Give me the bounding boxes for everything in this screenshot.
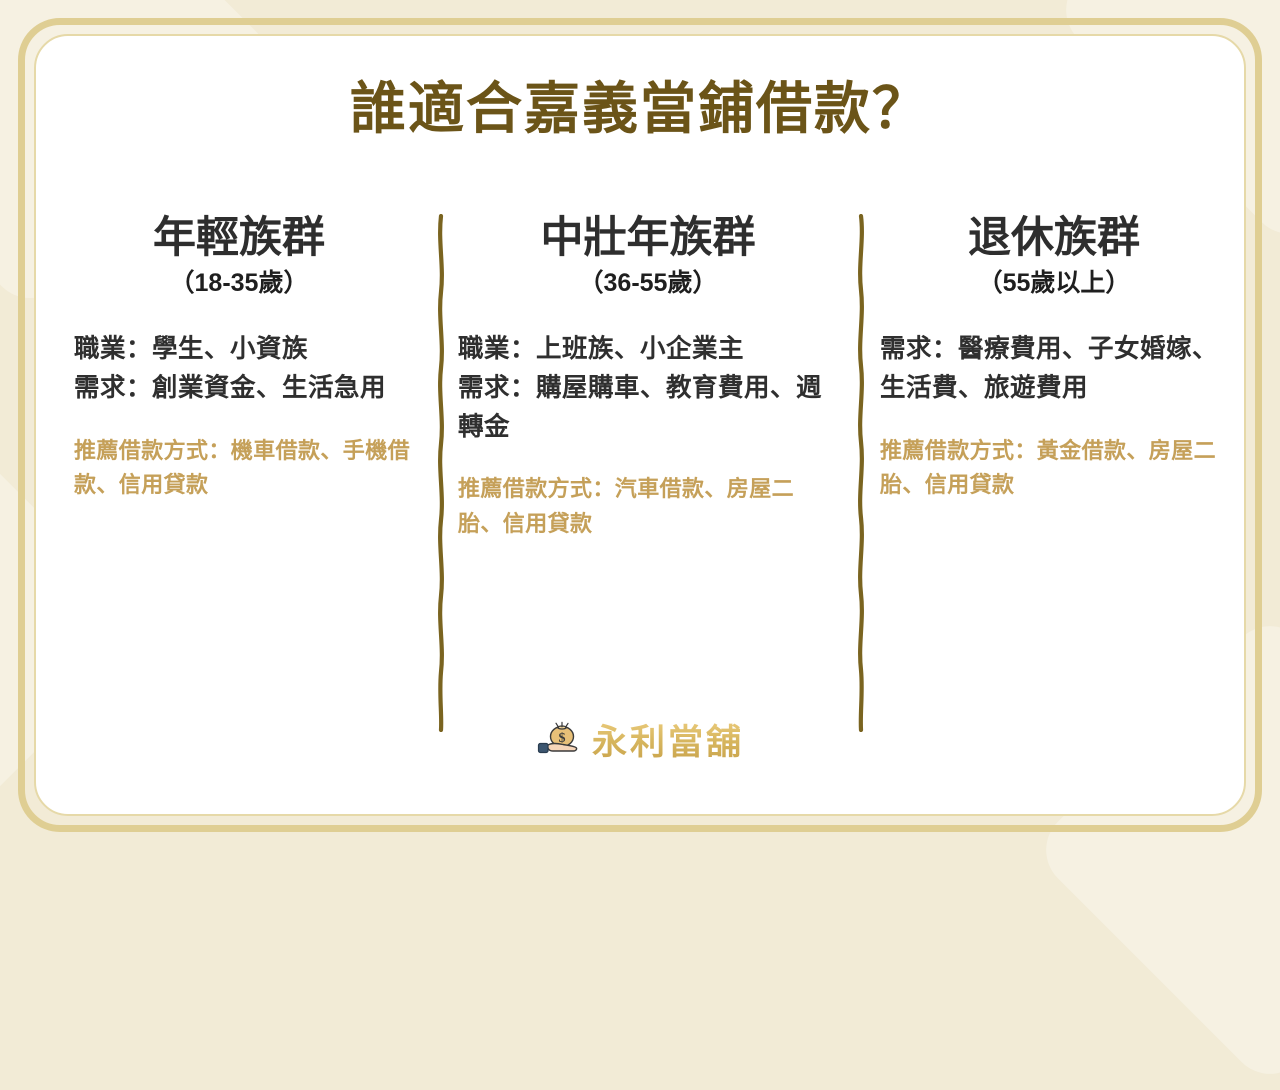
infographic-poster: 誰適合嘉義當鋪借款？ 年輕族群 （18-35歲） 職業：學生、小資族 需求：創業… [0,0,1280,850]
column-age-range: （36-55歲） [458,268,838,298]
audience-column-midlife: 中壯年族群 （36-55歲） 職業：上班族、小企業主 需求：購屋購車、教育費用、… [432,214,852,541]
column-details: 職業：上班族、小企業主 需求：購屋購車、教育費用、週轉金 [458,330,838,446]
page-title: 誰適合嘉義當鋪借款？ [36,78,1244,140]
audience-column-young: 年輕族群 （18-35歲） 職業：學生、小資族 需求：創業資金、生活急用 推薦借… [36,214,432,502]
detail-needs: 需求：購屋購車、教育費用、週轉金 [458,369,838,447]
column-age-range: （55歲以上） [880,268,1228,298]
brand-name: 永利當舖 [592,722,744,764]
audience-column-retired: 退休族群 （55歲以上） 需求：醫療費用、子女婚嫁、生活費、旅遊費用 推薦借款方… [852,214,1246,502]
detail-occupation: 職業：上班族、小企業主 [458,330,838,369]
column-age-range: （18-35歲） [64,268,414,298]
detail-occupation: 職業：學生、小資族 [64,330,414,369]
recommended-loan-types: 推薦借款方式：黃金借款、房屋二胎、信用貸款 [880,434,1228,502]
recommended-loan-types: 推薦借款方式：汽車借款、房屋二胎、信用貸款 [458,472,838,540]
column-details: 需求：醫療費用、子女婚嫁、生活費、旅遊費用 [880,330,1228,408]
content-card: 誰適合嘉義當鋪借款？ 年輕族群 （18-35歲） 職業：學生、小資族 需求：創業… [34,34,1246,816]
audience-columns: 年輕族群 （18-35歲） 職業：學生、小資族 需求：創業資金、生活急用 推薦借… [36,214,1246,734]
money-bag-in-hand-icon: $ [536,719,582,766]
recommended-loan-types: 推薦借款方式：機車借款、手機借款、信用貸款 [64,434,414,502]
column-heading: 退休族群 [880,214,1228,262]
column-heading: 年輕族群 [64,214,414,262]
column-details: 職業：學生、小資族 需求：創業資金、生活急用 [64,330,414,408]
detail-needs: 需求：創業資金、生活急用 [64,369,414,408]
detail-needs: 需求：醫療費用、子女婚嫁、生活費、旅遊費用 [880,330,1228,408]
column-heading: 中壯年族群 [458,214,838,262]
brand-footer: $ 永利當舖 [36,719,1244,766]
